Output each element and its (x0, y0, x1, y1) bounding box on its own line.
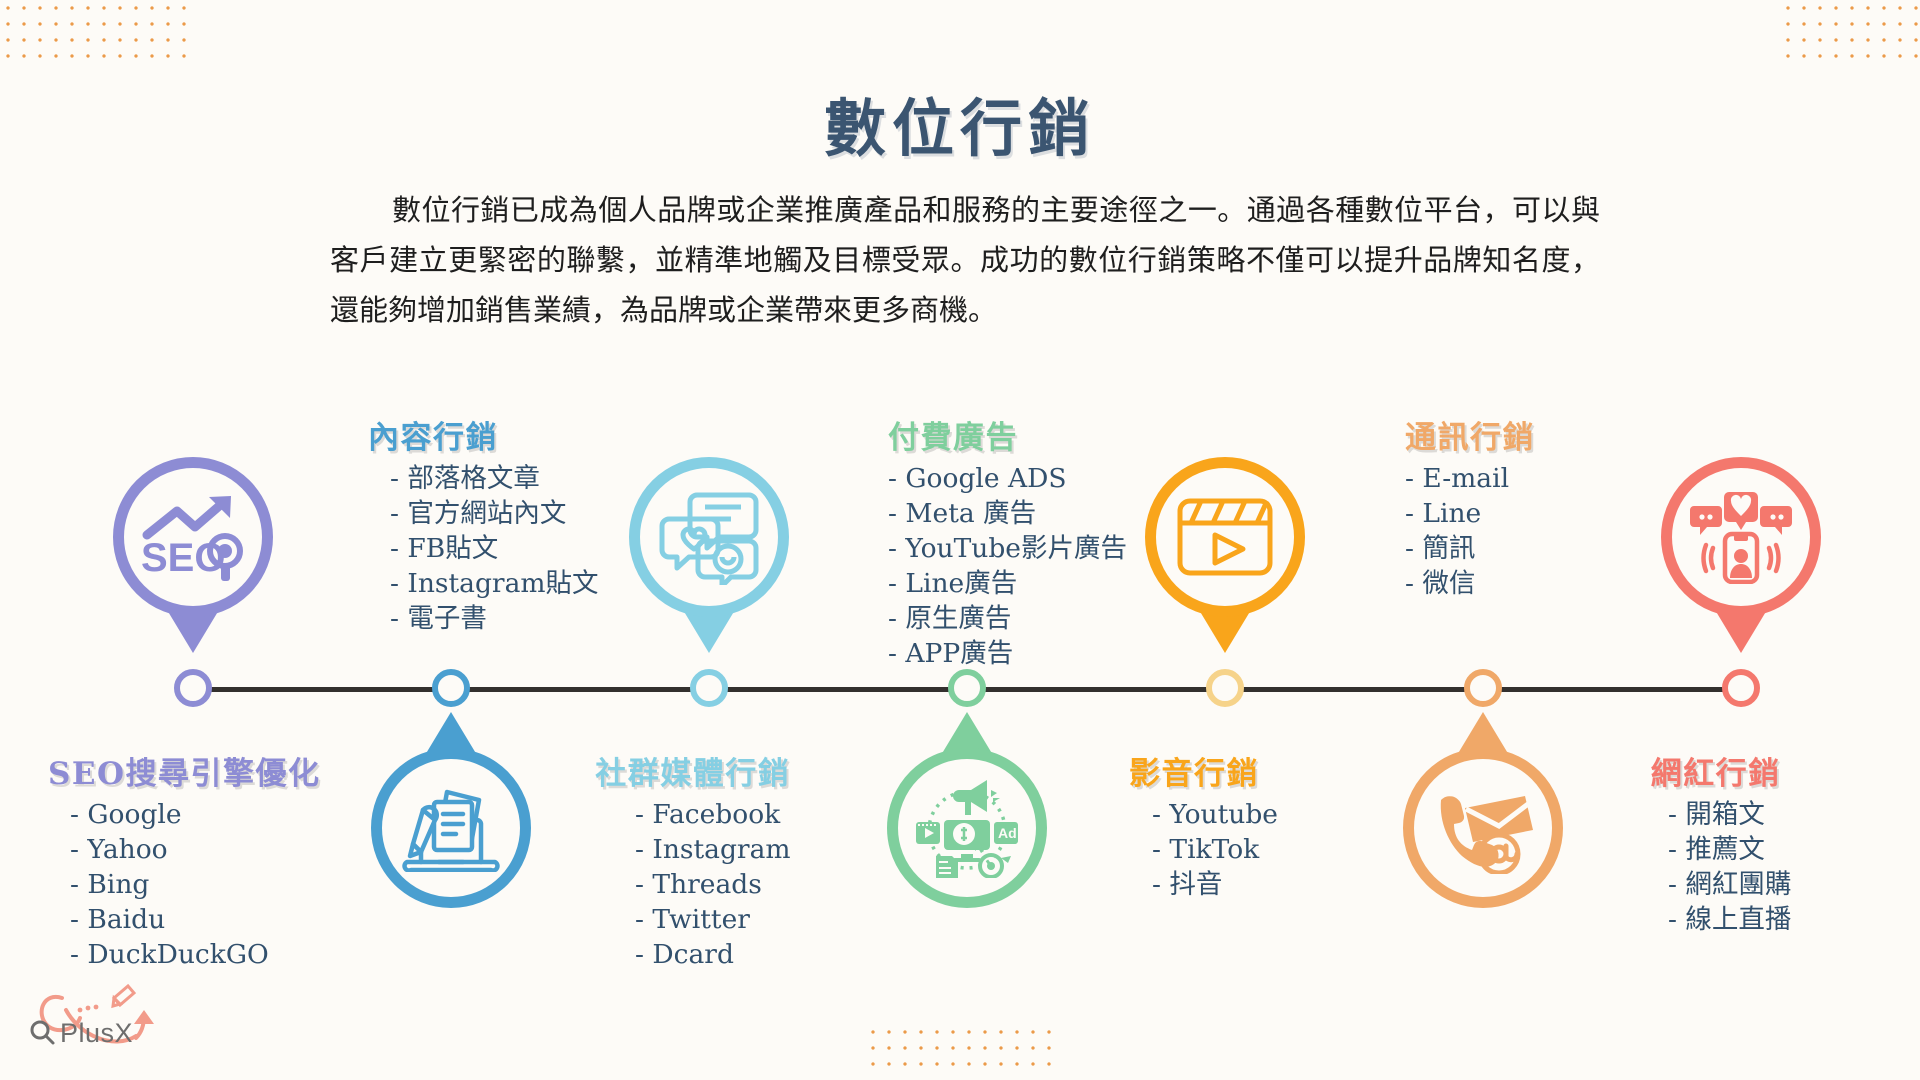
timeline-node-video (1206, 669, 1244, 707)
list-item: - 原生廣告 (888, 601, 1127, 636)
list-item: - Yahoo (70, 832, 321, 867)
list-messaging: - E-mail - Line - 簡訊 - 微信 (1405, 461, 1535, 601)
svg-text:Ad: Ad (998, 825, 1017, 841)
list-item: - 開箱文 (1668, 797, 1791, 832)
heading-content: 內容行銷 (368, 412, 599, 457)
list-item: - FB貼文 (390, 531, 599, 566)
decorative-dots-top-right (1780, 0, 1920, 58)
list-item: - Bing (70, 867, 321, 902)
list-paid-ads: - Google ADS - Meta 廣告 - YouTube影片廣告 - L… (888, 461, 1127, 671)
list-item: - 推薦文 (1668, 832, 1791, 867)
pin-influencer[interactable] (1661, 457, 1821, 653)
seo-chart-magnifier-icon: SEO (113, 457, 273, 617)
drop-messaging[interactable] (1403, 712, 1563, 908)
list-item: - Threads (635, 867, 791, 902)
chat-bubbles-icon (629, 457, 789, 617)
drop-content[interactable] (371, 712, 531, 908)
list-content: - 部落格文章 - 官方網站內文 - FB貼文 - Instagram貼文 - … (368, 461, 599, 636)
list-influencer: - 開箱文 - 推薦文 - 網紅團購 - 線上直播 (1640, 797, 1791, 937)
heading-video: 影音行銷 (1110, 748, 1278, 793)
heading-social: 社群媒體行銷 (595, 748, 791, 793)
block-messaging: 通訊行銷 - E-mail - Line - 簡訊 - 微信 (1405, 412, 1535, 601)
decorative-dots-top-left (0, 0, 190, 62)
list-item: - Google (70, 797, 321, 832)
list-item: - Baidu (70, 902, 321, 937)
heading-influencer: 網紅行銷 (1640, 748, 1791, 793)
timeline-node-social (690, 669, 728, 707)
list-item: - Line廣告 (888, 566, 1127, 601)
list-item: - Instagram (635, 832, 791, 867)
list-social: - Facebook - Instagram - Threads - Twitt… (595, 797, 791, 972)
list-item: - 線上直播 (1668, 902, 1791, 937)
block-influencer: 網紅行銷 - 開箱文 - 推薦文 - 網紅團購 - 線上直播 (1640, 748, 1791, 937)
list-item: - YouTube影片廣告 (888, 531, 1127, 566)
list-item: - TikTok (1152, 832, 1278, 867)
list-item: - Google ADS (888, 461, 1127, 496)
clapperboard-play-icon (1145, 457, 1305, 617)
list-item: - 電子書 (390, 601, 599, 636)
list-item: - 抖音 (1152, 867, 1278, 902)
timeline-node-paid-ads (948, 669, 986, 707)
list-item: - Instagram貼文 (390, 566, 599, 601)
block-video: 影音行銷 - Youtube - TikTok - 抖音 (1110, 748, 1278, 902)
drop-paid-ads[interactable]: Ad (887, 712, 1047, 908)
list-item: - Meta 廣告 (888, 496, 1127, 531)
list-item: - Twitter (635, 902, 791, 937)
timeline-node-seo (174, 669, 212, 707)
heading-messaging: 通訊行銷 (1405, 412, 1535, 457)
heading-seo: SEO搜尋引擎優化 (48, 748, 321, 793)
list-item: - 部落格文章 (390, 461, 599, 496)
list-item: - 官方網站內文 (390, 496, 599, 531)
logo-text: PlusX (60, 1018, 133, 1049)
list-item: - 簡訊 (1405, 531, 1535, 566)
block-seo: SEO搜尋引擎優化 - Google - Yahoo - Bing - Baid… (48, 748, 321, 972)
list-item: - Line (1405, 496, 1535, 531)
list-item: - DuckDuckGO (70, 937, 321, 972)
phone-person-heart-icon (1661, 457, 1821, 617)
pin-video[interactable] (1145, 457, 1305, 653)
phone-envelope-at-icon (1403, 748, 1563, 908)
pin-seo[interactable]: SEO (113, 457, 273, 653)
block-paid-ads: 付費廣告 - Google ADS - Meta 廣告 - YouTube影片廣… (888, 412, 1127, 671)
timeline-node-content (432, 669, 470, 707)
list-item: - Youtube (1152, 797, 1278, 832)
pin-social[interactable] (629, 457, 789, 653)
block-social: 社群媒體行銷 - Facebook - Instagram - Threads … (595, 748, 791, 972)
timeline-node-messaging (1464, 669, 1502, 707)
block-content: 內容行銷 - 部落格文章 - 官方網站內文 - FB貼文 - Instagram… (368, 412, 599, 636)
page-title: 數位行銷 (0, 78, 1920, 168)
laptop-document-pencil-icon (371, 748, 531, 908)
list-item: - Dcard (635, 937, 791, 972)
ad-ecosystem-icon: Ad (887, 748, 1047, 908)
list-item: - Facebook (635, 797, 791, 832)
list-item: - 網紅團購 (1668, 867, 1791, 902)
timeline-node-influencer (1722, 669, 1760, 707)
list-item: - 微信 (1405, 566, 1535, 601)
list-item: - APP廣告 (888, 636, 1127, 671)
list-seo: - Google - Yahoo - Bing - Baidu - DuckDu… (48, 797, 321, 972)
intro-paragraph: 數位行銷已成為個人品牌或企業推廣產品和服務的主要途徑之一。通過各種數位平台，可以… (330, 185, 1600, 335)
decorative-dots-bottom-center (865, 1024, 1060, 1066)
list-video: - Youtube - TikTok - 抖音 (1110, 797, 1278, 902)
heading-paid-ads: 付費廣告 (888, 412, 1127, 457)
list-item: - E-mail (1405, 461, 1535, 496)
